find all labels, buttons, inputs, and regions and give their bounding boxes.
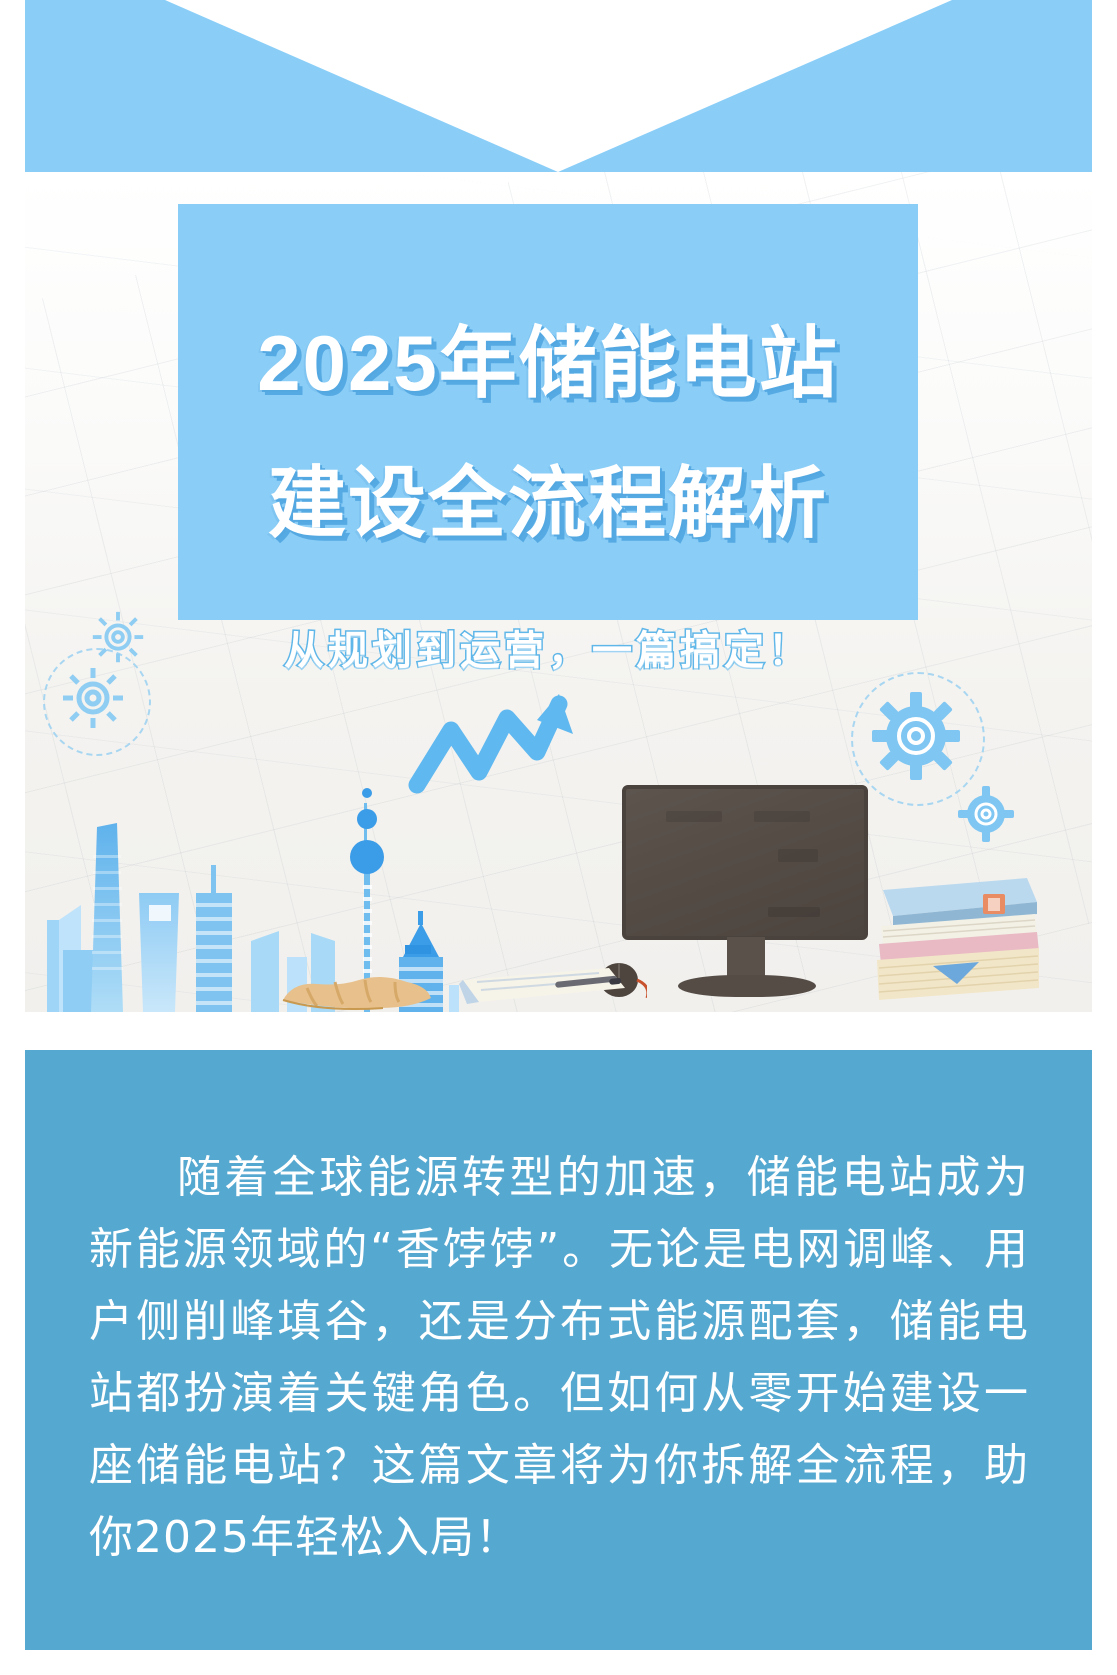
computer-monitor (622, 785, 868, 967)
gear-right-small-icon (957, 785, 1015, 843)
body-paragraph: 随着全球能源转型的加速，储能电站成为新能源领域的“香饽饽”。无论是电网调峰、用户… (89, 1142, 1029, 1574)
books-stack (875, 868, 1040, 1012)
title-plate: 2025年储能电站 建设全流程解析 (178, 204, 918, 620)
hero-banner: 2025年储能电站 建设全流程解析 从规划到运营，一篇搞定！ (25, 0, 1092, 1012)
page-subtitle: 从规划到运营，一篇搞定！ (178, 628, 918, 674)
monitor-back-panel (622, 785, 868, 940)
monitor-vent-left (666, 811, 722, 822)
gear-dashed-ring (43, 648, 151, 756)
body-section: 随着全球能源转型的加速，储能电站成为新能源领域的“香饽饽”。无论是电网调峰、用户… (25, 1050, 1092, 1650)
page-title-line-1: 2025年储能电站 (178, 324, 918, 402)
monitor-stand-base (678, 975, 816, 997)
monitor-label-patch (778, 849, 818, 862)
monitor-port-strip (768, 907, 820, 917)
croissant-illustration (277, 966, 437, 1012)
monitor-vent-right (754, 811, 810, 822)
notepad-and-pen (459, 962, 631, 1012)
page-title-line-2: 建设全流程解析 (178, 464, 918, 542)
hero-top-band (25, 0, 1092, 172)
